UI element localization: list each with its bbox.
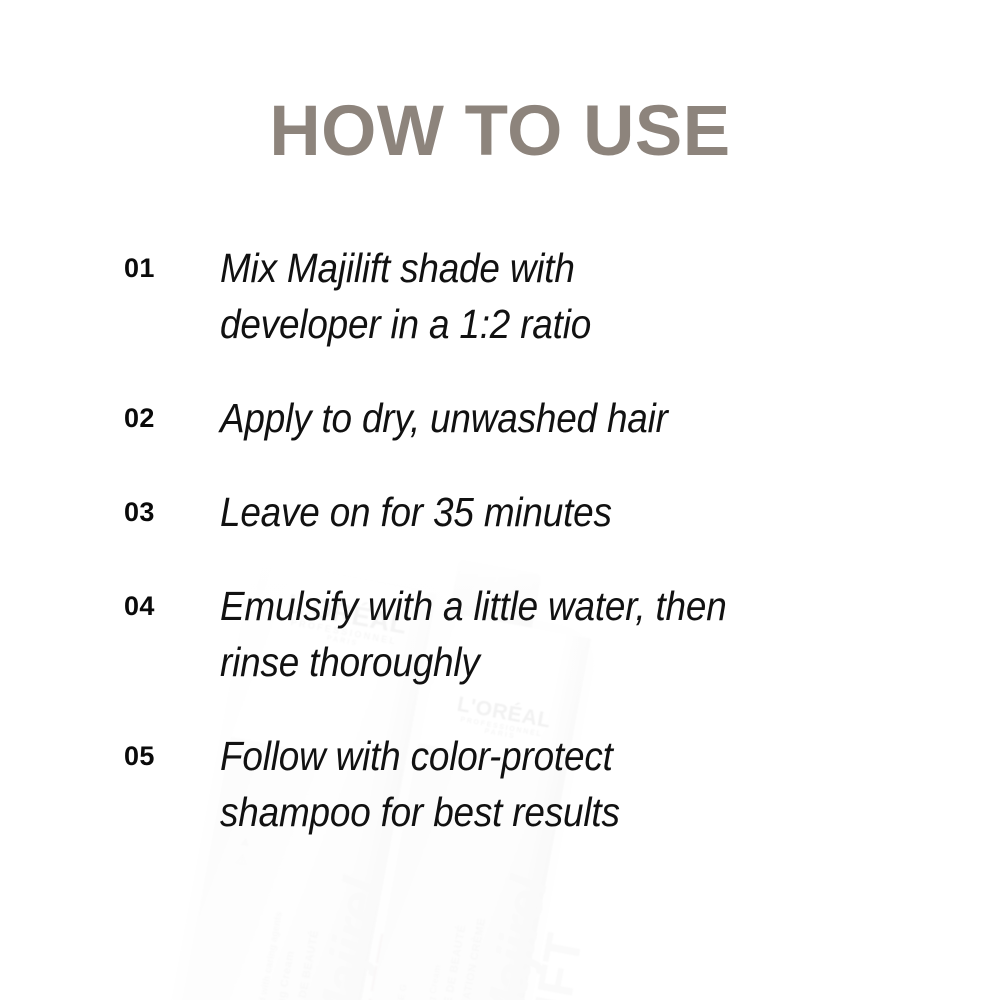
- poster-canvas: L'ORÉAL PROFESSIONNEL PARIS ▲ ⚠ Majirel …: [0, 0, 1000, 1000]
- list-item: 04 Emulsify with a little water, then ri…: [124, 578, 924, 690]
- list-item: 03 Leave on for 35 minutes: [124, 484, 924, 540]
- steps-list: 01 Mix Majilift shade with developer in …: [124, 240, 924, 840]
- step-number: 05: [124, 728, 220, 784]
- step-number: 04: [124, 578, 220, 634]
- list-item: 05 Follow with color-protect shampoo for…: [124, 728, 924, 840]
- step-text: Apply to dry, unwashed hair: [220, 390, 854, 446]
- step-number: 01: [124, 240, 220, 296]
- step-number: 02: [124, 390, 220, 446]
- list-item: 01 Mix Majilift shade with developer in …: [124, 240, 924, 352]
- poster-content: HOW TO USE 01 Mix Majilift shade with de…: [0, 0, 1000, 1000]
- step-number: 03: [124, 484, 220, 540]
- page-title: HOW TO USE: [0, 96, 1000, 167]
- step-text: Follow with color-protect shampoo for be…: [220, 728, 854, 840]
- step-text: Mix Majilift shade with developer in a 1…: [220, 240, 854, 352]
- list-item: 02 Apply to dry, unwashed hair: [124, 390, 924, 446]
- step-text: Leave on for 35 minutes: [220, 484, 854, 540]
- step-text: Emulsify with a little water, then rinse…: [220, 578, 854, 690]
